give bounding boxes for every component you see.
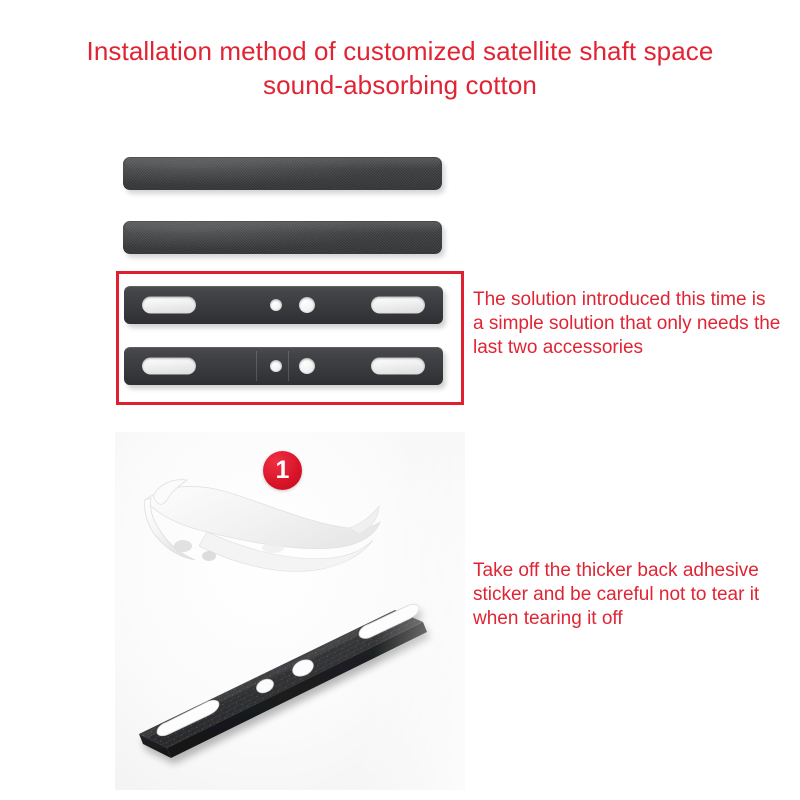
slot-left-icon: [142, 358, 196, 375]
plain-foam-strip-1: [123, 157, 442, 190]
instruction-graphic: Installation method of customized satell…: [0, 0, 800, 800]
slot-left-icon: [142, 297, 196, 314]
slot-right-icon: [371, 358, 425, 375]
angled-foam-strip: [123, 582, 443, 782]
adhesive-liner: [135, 470, 385, 585]
hole-large-icon: [299, 297, 315, 313]
seam-line: [256, 351, 257, 381]
hole-large-icon: [299, 358, 315, 374]
page-title-line-2: sound-absorbing cotton: [0, 68, 800, 102]
slot-right-icon: [371, 297, 425, 314]
slotted-strip-2: [124, 347, 443, 385]
page-title-line-1: Installation method of customized satell…: [0, 34, 800, 68]
plain-foam-strip-2: [123, 221, 442, 254]
hole-small-icon: [270, 299, 282, 311]
callout-text-peel: Take off the thicker back adhesive stick…: [473, 559, 781, 631]
callout-text-solution: The solution introduced this time is a s…: [473, 288, 781, 360]
slotted-strip-1: [124, 286, 443, 324]
hole-small-icon: [270, 360, 282, 372]
step-badge-1: 1: [263, 451, 302, 490]
page-title: Installation method of customized satell…: [0, 34, 800, 102]
seam-line: [288, 351, 289, 381]
